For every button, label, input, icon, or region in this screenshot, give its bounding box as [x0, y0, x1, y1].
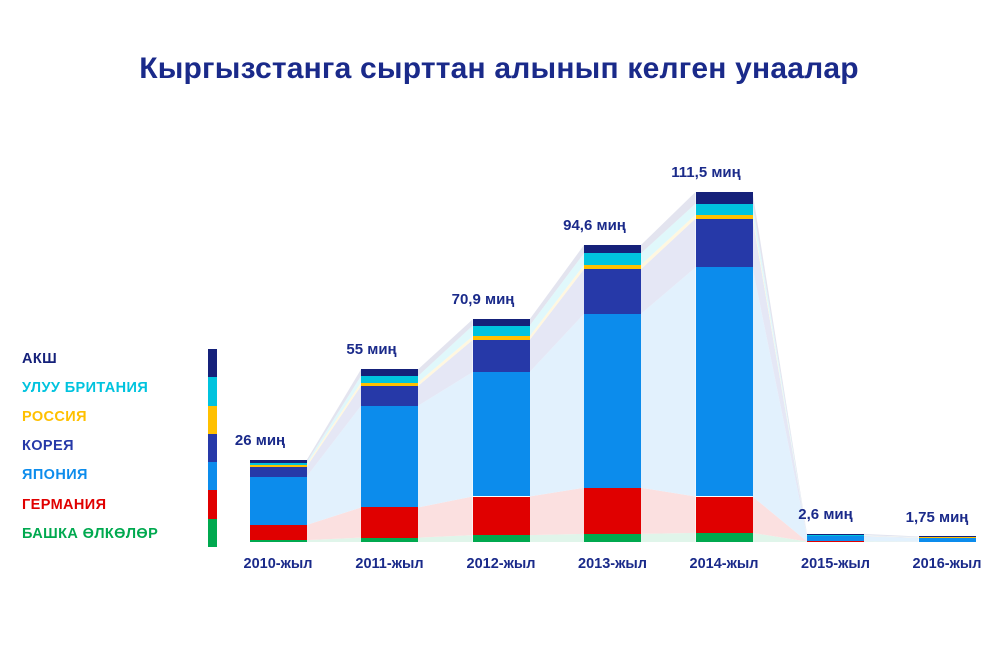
- legend-item-1[interactable]: АКШ: [22, 344, 227, 373]
- legend-item-5[interactable]: ЯПОНИЯ: [22, 461, 227, 490]
- bar-segment[interactable]: [361, 406, 418, 508]
- bar-value-label: 70,9 миң: [423, 291, 543, 308]
- bar-segment[interactable]: [584, 269, 641, 314]
- legend-item-label: РОССИЯ: [22, 409, 87, 425]
- bar-segment[interactable]: [696, 533, 753, 542]
- bar-value-label: 55 миң: [312, 341, 432, 358]
- stacked-bar[interactable]: [584, 245, 641, 542]
- x-axis-label: 2014-жыл: [674, 556, 774, 572]
- legend-item-6[interactable]: ГЕРМАНИЯ: [22, 490, 227, 519]
- legend-item-7[interactable]: БАШКА ӨЛКӨЛӨР: [22, 519, 227, 548]
- bar-segment[interactable]: [807, 534, 864, 536]
- bar-segment[interactable]: [584, 245, 641, 253]
- legend-item-label: КОРЕЯ: [22, 438, 74, 454]
- bar-segment[interactable]: [361, 538, 418, 542]
- bar-segment[interactable]: [584, 314, 641, 488]
- legend-item-2[interactable]: УЛУУ БРИТАНИЯ: [22, 373, 227, 402]
- legend-color-bar: [208, 349, 217, 547]
- bar-segment[interactable]: [584, 488, 641, 534]
- x-axis-label: 2015-жыл: [786, 556, 886, 572]
- bar-segment[interactable]: [473, 372, 530, 496]
- bar-segment[interactable]: [250, 460, 307, 462]
- x-axis-label: 2010-жыл: [228, 556, 328, 572]
- x-axis-label: 2016-жыл: [897, 556, 997, 572]
- bar-segment[interactable]: [696, 204, 753, 215]
- legend-item-label: ГЕРМАНИЯ: [22, 497, 106, 513]
- bar-value-label: 2,6 миң: [766, 506, 886, 523]
- bar-segment[interactable]: [250, 463, 307, 465]
- bar-segment[interactable]: [250, 477, 307, 525]
- bar-segment[interactable]: [361, 386, 418, 406]
- bar-segment[interactable]: [250, 540, 307, 542]
- bar-segment[interactable]: [361, 376, 418, 383]
- stacked-bar[interactable]: [919, 537, 976, 542]
- bar-segment[interactable]: [696, 219, 753, 268]
- bar-segment[interactable]: [584, 253, 641, 265]
- legend-swatch-3: [208, 406, 217, 434]
- bar-segment[interactable]: [696, 497, 753, 533]
- bar-segment[interactable]: [250, 465, 307, 467]
- bar-segment[interactable]: [919, 538, 976, 542]
- legend-swatch-5: [208, 462, 217, 490]
- legend-swatch-7: [208, 519, 217, 547]
- legend-swatch-4: [208, 434, 217, 462]
- plot-area: 26 миң2010-жыл55 миң2011-жыл70,9 миң2012…: [0, 0, 998, 659]
- stacked-bar[interactable]: [250, 460, 307, 542]
- legend-swatch-2: [208, 377, 217, 405]
- legend-item-label: ЯПОНИЯ: [22, 467, 88, 483]
- bar-segment[interactable]: [250, 525, 307, 540]
- bar-segment[interactable]: [473, 340, 530, 372]
- chart-container: Кыргызстанга сырттан алынып келген унаал…: [0, 0, 998, 659]
- bar-segment[interactable]: [696, 267, 753, 496]
- bar-segment[interactable]: [473, 336, 530, 340]
- bar-segment[interactable]: [473, 535, 530, 542]
- bar-segment[interactable]: [361, 369, 418, 376]
- legend-item-label: УЛУУ БРИТАНИЯ: [22, 380, 148, 396]
- bar-segment[interactable]: [919, 536, 976, 538]
- stacked-bar[interactable]: [807, 534, 864, 542]
- bar-value-label: 111,5 миң: [646, 164, 766, 181]
- legend-item-label: АКШ: [22, 351, 57, 367]
- x-axis-label: 2011-жыл: [340, 556, 440, 572]
- legend-swatch-1: [208, 349, 217, 377]
- stacked-bar[interactable]: [696, 192, 753, 542]
- bar-segment[interactable]: [696, 215, 753, 219]
- bar-segment[interactable]: [250, 467, 307, 477]
- x-axis-label: 2012-жыл: [451, 556, 551, 572]
- bar-segment[interactable]: [473, 497, 530, 536]
- x-axis-label: 2013-жыл: [563, 556, 663, 572]
- bar-segment[interactable]: [696, 192, 753, 204]
- bar-segment[interactable]: [473, 319, 530, 325]
- bar-value-label: 94,6 миң: [535, 217, 655, 234]
- legend-item-4[interactable]: КОРЕЯ: [22, 432, 227, 461]
- stacked-bar[interactable]: [361, 369, 418, 542]
- legend-item-label: БАШКА ӨЛКӨЛӨР: [22, 526, 158, 542]
- legend-item-3[interactable]: РОССИЯ: [22, 402, 227, 431]
- bar-segment[interactable]: [361, 383, 418, 386]
- bar-segment[interactable]: [361, 507, 418, 537]
- legend-swatch-6: [208, 490, 217, 518]
- bar-value-label: 1,75 миң: [877, 509, 997, 526]
- bar-segment[interactable]: [584, 534, 641, 542]
- bar-segment[interactable]: [584, 265, 641, 269]
- legend: АКШУЛУУ БРИТАНИЯРОССИЯКОРЕЯЯПОНИЯГЕРМАНИ…: [22, 344, 227, 549]
- bar-segment[interactable]: [807, 536, 864, 541]
- bar-segment[interactable]: [473, 326, 530, 337]
- stacked-bar[interactable]: [473, 319, 530, 542]
